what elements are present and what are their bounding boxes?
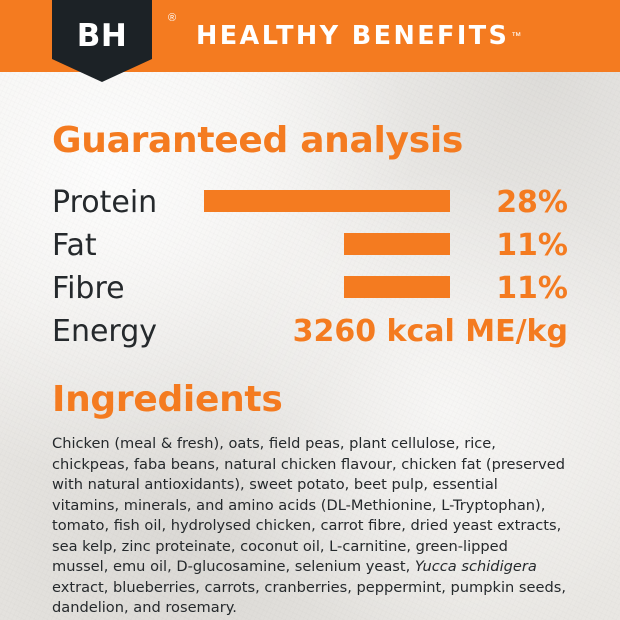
header-title: HEALTHY BENEFITS	[196, 21, 509, 51]
ingredients-italic-term: Yucca schidigera	[415, 558, 537, 575]
analysis-value: 28%	[450, 188, 568, 218]
analysis-value: 3260 kcal ME/kg	[204, 317, 568, 347]
label-content: Guaranteed analysis Protein 28% Fat 11% …	[0, 72, 620, 619]
ingredients-text-part-1: Chicken (meal & fresh), oats, field peas…	[52, 435, 565, 575]
analysis-bar-fill	[344, 233, 450, 255]
analysis-label: Fat	[52, 231, 204, 261]
product-label-page: BH ® HEALTHY BENEFITS ™ Guaranteed analy…	[0, 0, 620, 620]
analysis-bar-track	[204, 267, 450, 310]
header-title-wrap: HEALTHY BENEFITS ™	[196, 0, 521, 72]
guaranteed-analysis-table: Protein 28% Fat 11% Fibre 11%	[52, 181, 568, 353]
analysis-value: 11%	[450, 274, 568, 304]
ingredients-text: Chicken (meal & fresh), oats, field peas…	[52, 434, 568, 619]
analysis-bar-fill	[344, 276, 450, 298]
analysis-bar-track	[204, 181, 450, 224]
analysis-row-energy: Energy 3260 kcal ME/kg	[52, 310, 568, 353]
header-bar: BH ® HEALTHY BENEFITS ™	[0, 0, 620, 72]
trademark-icon: ™	[511, 31, 521, 42]
analysis-label: Fibre	[52, 274, 204, 304]
brand-logo-shield: BH	[52, 0, 152, 82]
brand-logo-text: BH	[77, 21, 128, 52]
ingredients-title: Ingredients	[52, 353, 568, 420]
ingredients-text-part-2: extract, blueberries, carrots, cranberri…	[52, 579, 566, 617]
analysis-value: 11%	[450, 231, 568, 261]
analysis-label: Energy	[52, 317, 204, 347]
analysis-label: Protein	[52, 188, 204, 218]
analysis-row-fat: Fat 11%	[52, 224, 568, 267]
analysis-row-fibre: Fibre 11%	[52, 267, 568, 310]
registered-trademark-icon: ®	[168, 12, 176, 24]
analysis-row-protein: Protein 28%	[52, 181, 568, 224]
guaranteed-analysis-title: Guaranteed analysis	[52, 72, 568, 161]
analysis-bar-fill	[204, 190, 450, 212]
analysis-bar-track	[204, 224, 450, 267]
